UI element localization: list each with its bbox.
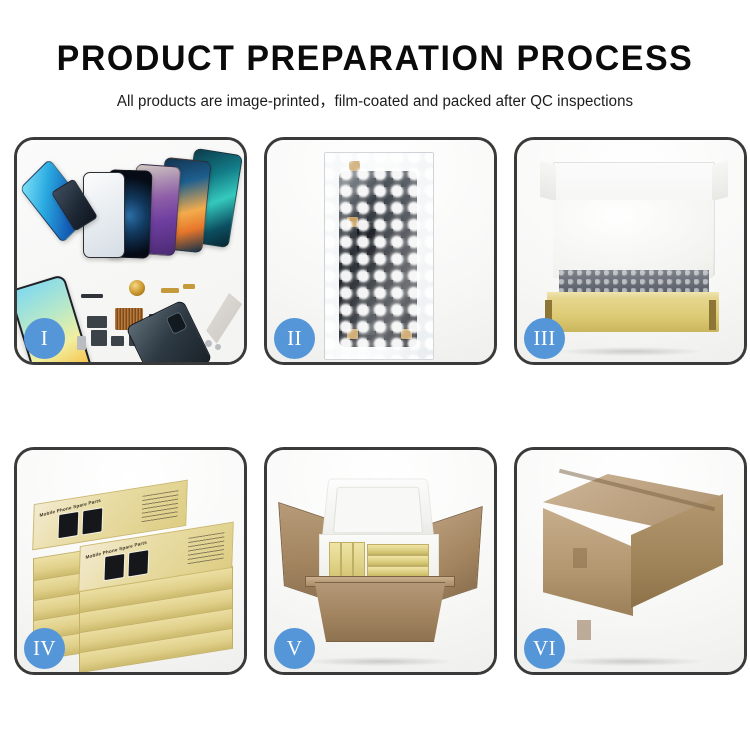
yellow-box-body	[547, 298, 719, 332]
camera-module-part	[91, 330, 107, 346]
step-badge-5: V	[274, 628, 315, 669]
foam-lid-flap-left	[540, 161, 556, 202]
carton-tape-patch-top	[573, 548, 587, 568]
step-badge-4: IV	[24, 628, 65, 669]
step-badge-1: I	[24, 318, 65, 359]
box-spec-lines-front	[188, 532, 225, 566]
step-badge-6: VI	[524, 628, 565, 669]
process-step-card-5[interactable]: V	[264, 447, 497, 675]
gold-contact-part	[183, 284, 195, 289]
shipping-carton-body	[309, 582, 451, 642]
process-step-card-4[interactable]: Mobile Phone Spare Parts Mobile Phone Sp…	[14, 447, 247, 675]
drop-shadow-3	[558, 347, 703, 356]
step-badge-3: III	[524, 318, 565, 359]
plastic-sheen	[325, 153, 433, 359]
foam-lid-flap-right	[712, 161, 728, 202]
carton-left-face	[543, 508, 633, 616]
screw-part-a	[205, 340, 212, 347]
screw-part-b	[215, 344, 221, 350]
speaker-strip-part	[81, 294, 103, 298]
process-steps-grid: I II	[14, 137, 736, 675]
bubble-wrap-bag	[324, 152, 434, 360]
foam-inner-sheet	[553, 200, 713, 278]
drop-shadow-6	[558, 657, 703, 666]
button-part	[111, 336, 124, 346]
process-step-card-3[interactable]: III	[514, 137, 747, 365]
box-window-front-b	[127, 549, 149, 577]
retail-box-flat-2	[367, 555, 429, 566]
box-corner-right	[709, 300, 716, 330]
process-step-card-6[interactable]: VI	[514, 447, 747, 675]
box-window-front-a	[103, 553, 125, 581]
retail-box-flat-1	[367, 544, 429, 555]
carton-tape-patch-bottom	[577, 620, 591, 640]
page-title: PRODUCT PREPARATION PROCESS	[11, 0, 739, 78]
drop-shadow-5	[308, 657, 453, 666]
page-header: PRODUCT PREPARATION PROCESS All products…	[0, 0, 750, 111]
process-step-card-2[interactable]: II	[264, 137, 497, 365]
copper-coil-part	[129, 280, 145, 296]
connector-part	[87, 316, 107, 328]
box-window-back-a	[57, 511, 79, 539]
box-spec-lines-back	[142, 490, 179, 524]
gold-flex-part	[161, 288, 179, 293]
box-window-back-b	[81, 507, 103, 535]
process-step-card-1[interactable]: I	[14, 137, 247, 365]
step-badge-2: II	[274, 318, 315, 359]
sim-tray-part	[77, 336, 86, 350]
page-subtitle: All products are image-printed，film-coat…	[6, 78, 745, 111]
box-stack: Mobile Phone Spare Parts Mobile Phone Sp…	[33, 476, 233, 662]
